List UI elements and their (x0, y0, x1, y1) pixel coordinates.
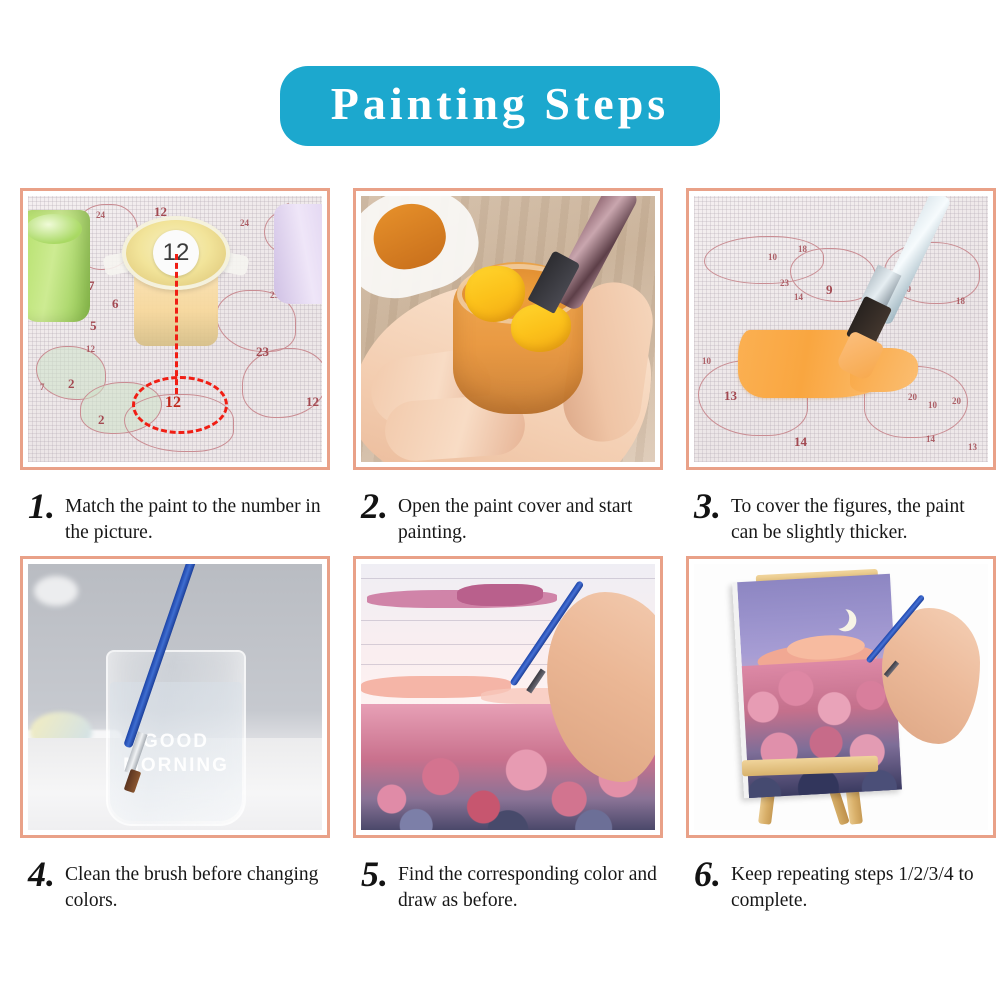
canvas-number: 18 (798, 244, 807, 254)
lid-paint-residue (366, 196, 453, 277)
canvas-number: 9 (826, 282, 833, 298)
step-1-number: 1. (28, 488, 65, 524)
canvas-number: 23 (256, 344, 269, 360)
step-3-frame: 10 18 23 14 9 20 18 10 20 13 14 20 10 20… (686, 188, 996, 470)
canvas-number: 7 (40, 382, 45, 392)
step-4-caption: 4. Clean the brush before changing color… (20, 838, 330, 924)
canvas-number: 10 (928, 400, 937, 410)
step-5-photo (361, 564, 655, 830)
step-2-frame (353, 188, 663, 470)
canvas-number: 14 (794, 434, 807, 450)
step-4-photo: GOOD MORNING (28, 564, 322, 830)
step-1-caption: 1. Match the paint to the number in the … (20, 470, 330, 556)
step-5-frame (353, 556, 663, 838)
canvas-number: 18 (956, 296, 965, 306)
canvas-number: 10 (702, 356, 711, 366)
header: Painting Steps (0, 0, 1000, 146)
canvas-number: 20 (908, 392, 917, 402)
crescent-moon-icon (827, 606, 850, 629)
step-4-text: Clean the brush before changing colors. (65, 856, 324, 914)
step-6-photo (694, 564, 988, 830)
step-2-photo (361, 196, 655, 462)
step-6-number: 6. (694, 856, 731, 892)
circled-canvas-number: 12 (165, 394, 181, 412)
painted-sky-band (457, 584, 543, 606)
paint-pot-purple (274, 204, 322, 304)
background-blur-object (34, 576, 78, 606)
glass-text-line-1: GOOD (143, 731, 209, 752)
step-3-photo: 10 18 23 14 9 20 18 10 20 13 14 20 10 20… (694, 196, 988, 462)
step-card-3: 10 18 23 14 9 20 18 10 20 13 14 20 10 20… (686, 188, 996, 556)
step-3-caption: 3. To cover the figures, the paint can b… (686, 470, 996, 556)
canvas-number: 23 (780, 278, 789, 288)
step-4-number: 4. (28, 856, 65, 892)
canvas-number: 5 (90, 318, 97, 334)
step-card-1: 12 24 2 7 6 5 12 2 7 2 23 24 23 12 (20, 188, 330, 556)
step-3-text: To cover the figures, the paint can be s… (731, 488, 990, 546)
canvas-number: 13 (724, 388, 737, 404)
step-3-number: 3. (694, 488, 731, 524)
step-2-text: Open the paint cover and start painting. (398, 488, 657, 546)
page-title: Painting Steps (328, 80, 672, 128)
step-1-photo: 12 24 2 7 6 5 12 2 7 2 23 24 23 12 (28, 196, 322, 462)
canvas-number: 6 (112, 296, 119, 312)
step-4-frame: GOOD MORNING (20, 556, 330, 838)
canvas-number: 14 (926, 434, 935, 444)
step-6-caption: 6. Keep repeating steps 1/2/3/4 to compl… (686, 838, 996, 924)
step-6-text: Keep repeating steps 1/2/3/4 to complete… (731, 856, 990, 914)
dashed-guide-line (175, 254, 178, 394)
title-banner: Painting Steps (280, 66, 720, 146)
canvas-number: 14 (794, 292, 803, 302)
canvas-number: 12 (86, 344, 95, 354)
canvas-number: 24 (240, 218, 249, 228)
step-2-caption: 2. Open the paint cover and start painti… (353, 470, 663, 556)
canvas-number: 20 (952, 396, 961, 406)
painted-cherry-blossoms (734, 657, 902, 798)
step-2-number: 2. (361, 488, 398, 524)
steps-grid: 12 24 2 7 6 5 12 2 7 2 23 24 23 12 (0, 188, 1000, 924)
step-5-caption: 5. Find the corresponding color and draw… (353, 838, 663, 924)
canvas-number: 10 (768, 252, 777, 262)
canvas-number: 2 (98, 412, 105, 428)
canvas-number: 2 (68, 376, 75, 392)
paint-pot-green (28, 210, 90, 322)
outline-line (361, 578, 655, 579)
step-1-frame: 12 24 2 7 6 5 12 2 7 2 23 24 23 12 (20, 188, 330, 470)
step-5-text: Find the corresponding color and draw as… (398, 856, 657, 914)
step-card-2: 2. Open the paint cover and start painti… (353, 188, 663, 556)
step-6-frame (686, 556, 996, 838)
step-5-number: 5. (361, 856, 398, 892)
canvas-number: 24 (96, 210, 105, 220)
canvas-number: 13 (968, 442, 977, 452)
step-card-5: 5. Find the corresponding color and draw… (353, 556, 663, 924)
step-card-4: GOOD MORNING 4. Clean the brush before c… (20, 556, 330, 924)
step-1-text: Match the paint to the number in the pic… (65, 488, 324, 546)
canvas-number: 12 (306, 394, 319, 410)
step-card-6: 6. Keep repeating steps 1/2/3/4 to compl… (686, 556, 996, 924)
